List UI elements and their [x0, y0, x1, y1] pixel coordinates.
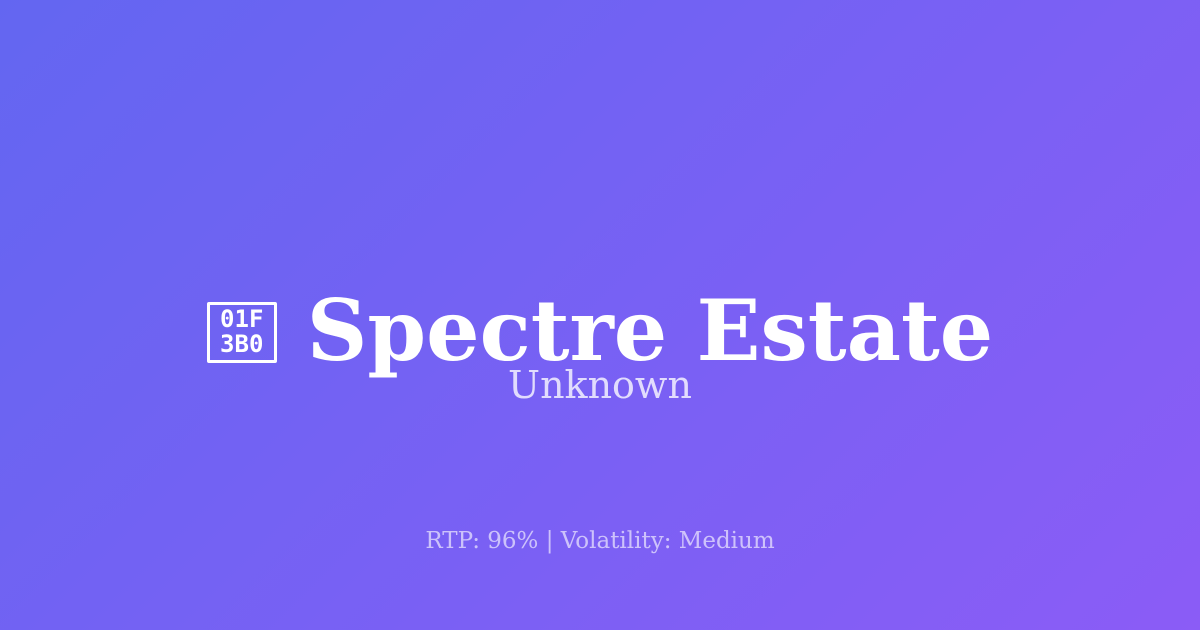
provider-subtitle: Unknown: [0, 365, 1200, 407]
codepoint-row-upper: 01F: [220, 307, 263, 332]
slot-machine-icon: 01F 3B0: [207, 302, 277, 363]
codepoint-row-lower: 3B0: [220, 332, 263, 357]
game-stats-line: RTP: 96% | Volatility: Medium: [0, 528, 1200, 556]
og-preview-card: 01F 3B0 Spectre Estate Unknown RTP: 96% …: [0, 0, 1200, 630]
